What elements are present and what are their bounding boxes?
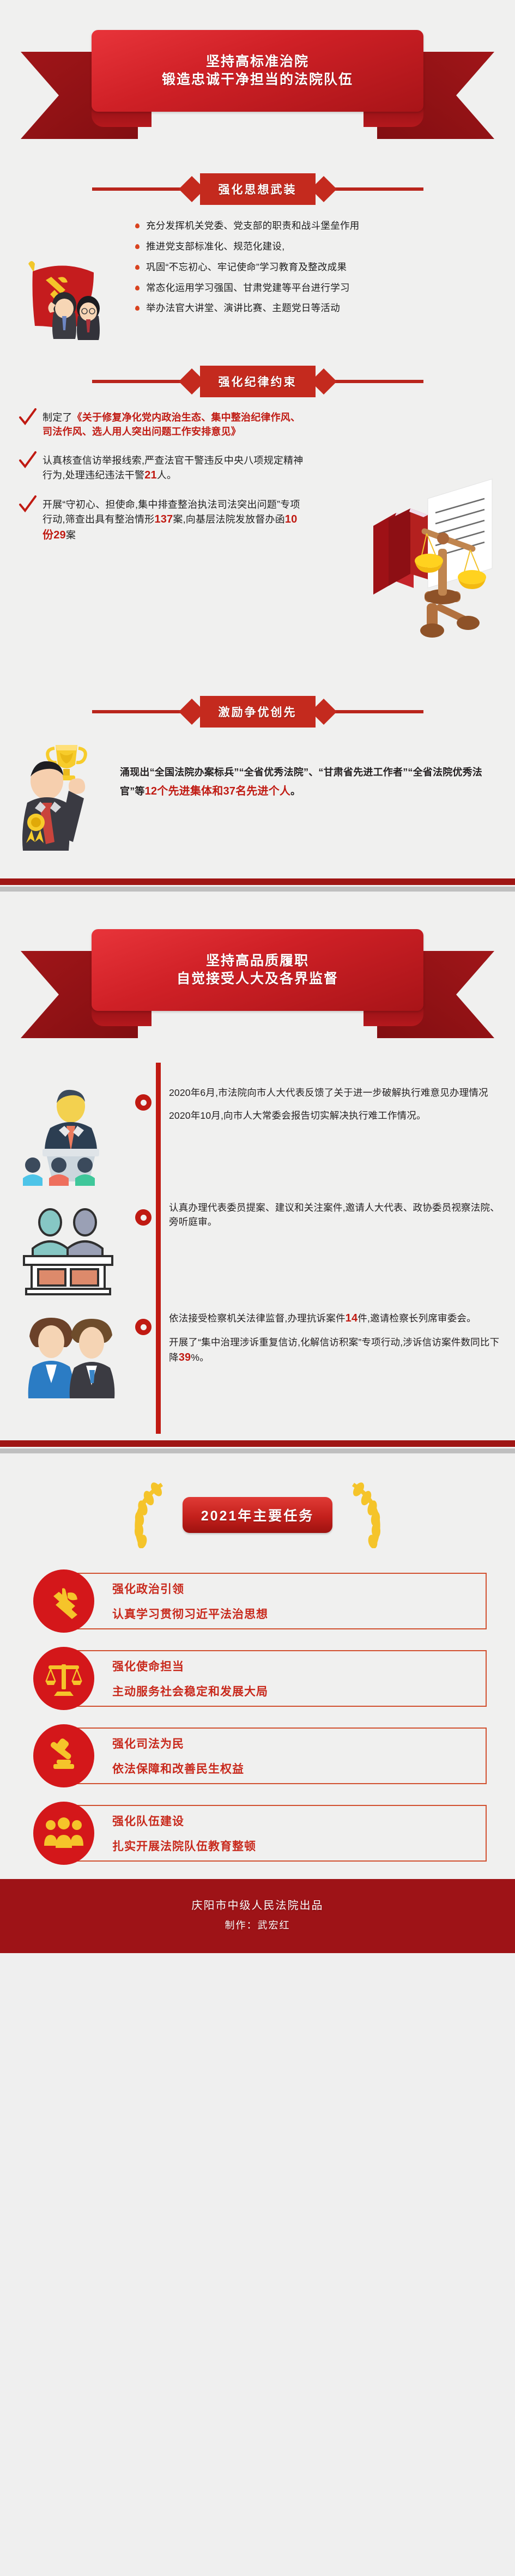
discipline-item-3: 开展“守初心、担使命,集中排查整治执法司法突出问题”专项行动,筛查出具有整治情形… bbox=[19, 498, 307, 544]
party-flag-salute-icon bbox=[12, 219, 126, 350]
tasks-heading-group: 2021年主要任务 bbox=[0, 1453, 515, 1569]
task-subtitle: 扎实开展法院队伍教育整顿 bbox=[112, 1838, 256, 1854]
timeline-dot-icon bbox=[135, 1209, 152, 1226]
check-mark-icon bbox=[19, 495, 37, 514]
task-title: 强化使命担当 bbox=[112, 1658, 268, 1674]
check-mark-icon bbox=[19, 451, 37, 470]
task-subtitle: 认真学习贯彻习近平法治思想 bbox=[112, 1605, 268, 1622]
timeline-dot-icon bbox=[135, 1094, 152, 1111]
task-badge bbox=[28, 1802, 99, 1865]
section-header-thought: 强化思想武装 bbox=[0, 163, 515, 210]
scales-icon bbox=[33, 1647, 94, 1710]
thought-content-block: 充分发挥机关党委、党支部的职责和战斗堡垒作用 推进党支部标准化、规范化建设, 巩… bbox=[0, 210, 515, 356]
hero-ribbon-banner: 坚持高标准治院 锻造忠诚干净担当的法院队伍 bbox=[0, 0, 515, 163]
trophy-award-person-icon bbox=[16, 738, 120, 856]
timeline-dot-icon bbox=[135, 1319, 152, 1335]
post-text: 件,邀请检察长列席审委会。 bbox=[358, 1313, 476, 1324]
timeline-paragraph: 依法接受检察机关法律监督,办理抗诉案件14件,邀请检察长列席审委会。 bbox=[169, 1310, 501, 1326]
list-item: 充分发挥机关党委、党支部的职责和战斗堡垒作用 bbox=[134, 219, 500, 233]
task-badge bbox=[28, 1724, 99, 1787]
timeline-paragraph: 认真办理代表委员提案、建议和关注案件,邀请人大代表、政协委员视察法院、旁听庭审。 bbox=[169, 1201, 501, 1229]
header-rule-left bbox=[92, 187, 185, 191]
section-divider-bar bbox=[0, 877, 515, 892]
stat-number-cases: 137 bbox=[154, 513, 173, 525]
gavel-icon bbox=[33, 1724, 94, 1787]
discipline-text-1: 制定了《关于修复净化党内政治生态、集中整治纪律作风、司法作风、选人用人突出问题工… bbox=[43, 410, 307, 439]
task-text: 强化使命担当 主动服务社会稳定和发展大局 bbox=[99, 1658, 268, 1699]
list-item: 巩固“不忘初心、牢记使命”学习教育及整改成果 bbox=[134, 260, 500, 274]
timeline-text: 依法接受检察机关法律监督,办理抗诉案件14件,邀请检察长列席审委会。 开展了“集… bbox=[169, 1302, 501, 1374]
mid-text: 案,向基层法院发放督办函 bbox=[173, 514, 284, 525]
section-title-incentive: 激励争优创先 bbox=[200, 696, 316, 728]
header-rule-right bbox=[331, 710, 423, 713]
second-title-line2: 自觉接受人大及各界监督 bbox=[177, 970, 338, 989]
check-mark-icon bbox=[19, 408, 37, 427]
incentive-text-after: 。 bbox=[290, 786, 300, 797]
stat-number-protest-cases: 14 bbox=[346, 1312, 358, 1324]
timeline-row: 认真办理代表委员提案、建议和关注案件,邀请人大代表、政协委员视察法院、旁听庭审。 bbox=[0, 1193, 501, 1298]
task-item-people: 强化司法为民 依法保障和改善民生权益 bbox=[28, 1724, 487, 1787]
task-item-team: 强化队伍建设 扎实开展法院队伍教育整顿 bbox=[28, 1802, 487, 1865]
law-books-scales-gavel-icon bbox=[363, 467, 511, 650]
task-text: 强化队伍建设 扎实开展法院队伍教育整顿 bbox=[99, 1813, 256, 1854]
task-title: 强化政治引领 bbox=[112, 1580, 268, 1597]
task-item-political: 强化政治引领 认真学习贯彻习近平法治思想 bbox=[28, 1569, 487, 1633]
three-people-icon bbox=[33, 1802, 94, 1865]
section-title-discipline: 强化纪律约束 bbox=[200, 366, 316, 397]
stat-number-decline-pct: 39 bbox=[179, 1351, 191, 1363]
discipline-item-1: 制定了《关于修复净化党内政治生态、集中整治纪律作风、司法作风、选人用人突出问题工… bbox=[19, 410, 307, 439]
header-rule-right bbox=[331, 187, 423, 191]
timeline-paragraph: 2020年10月,向市人大常委会报告切实解决执行难工作情况。 bbox=[169, 1108, 501, 1123]
two-people-bench-icon bbox=[0, 1193, 131, 1298]
timeline-paragraph: 开展了“集中治理涉诉重复信访,化解信访积案”专项行动,涉诉信访案件数同比下降39… bbox=[169, 1335, 501, 1366]
task-item-mission: 强化使命担当 主动服务社会稳定和发展大局 bbox=[28, 1647, 487, 1710]
task-title: 强化队伍建设 bbox=[112, 1813, 256, 1829]
tail-text: 案 bbox=[66, 530, 76, 541]
task-badge bbox=[28, 1647, 99, 1710]
section-header-incentive: 激励争优创先 bbox=[0, 686, 515, 733]
divider-red-line bbox=[0, 1440, 515, 1447]
discipline-item-2: 认真核查信访举报线索,严查法官干警违反中央八项规定精神行为,处理违纪违法干警21… bbox=[19, 453, 307, 483]
section-divider-bar-2 bbox=[0, 1439, 515, 1453]
incentive-stat-highlight: 12个先进集体和37名先进个人 bbox=[145, 785, 291, 797]
timeline-row: 2020年6月,市法院向市人大代表反馈了关于进一步破解执行难意见办理情况 202… bbox=[0, 1078, 501, 1189]
post-text: %。 bbox=[191, 1352, 209, 1363]
second-title-line1: 坚持高品质履职 bbox=[206, 952, 309, 971]
supervision-timeline: 2020年6月,市法院向市人大代表反馈了关于进一步破解执行难意见办理情况 202… bbox=[0, 1063, 515, 1434]
second-ribbon-plate: 坚持高品质履职 自觉接受人大及各界监督 bbox=[92, 929, 423, 1011]
divider-gray-line bbox=[0, 1448, 515, 1453]
discipline-content-block: 制定了《关于修复净化党内政治生态、集中整治纪律作风、司法作风、选人用人突出问题工… bbox=[0, 403, 515, 686]
hero-title-line2: 锻造忠诚干净担当的法院队伍 bbox=[162, 71, 353, 89]
header-rule-left bbox=[92, 710, 185, 713]
header-rule-left bbox=[92, 380, 185, 383]
section-title-thought: 强化思想武装 bbox=[200, 173, 316, 205]
task-subtitle: 依法保障和改善民生权益 bbox=[112, 1760, 244, 1777]
task-badge bbox=[28, 1569, 99, 1633]
laurel-branch-right-icon bbox=[347, 1478, 389, 1551]
list-item: 常态化运用学习强国、甘肃党建等平台进行学习 bbox=[134, 281, 500, 295]
discipline-text-2: 认真核查信访举报线索,严查法官干警违反中央八项规定精神行为,处理违纪违法干警21… bbox=[43, 453, 307, 483]
stat-number: 21 bbox=[144, 469, 157, 481]
pre-text: 依法接受检察机关法律监督,办理抗诉案件 bbox=[169, 1313, 346, 1324]
list-item: 推进党支部标准化、规范化建设, bbox=[134, 240, 500, 253]
people-pair-icon bbox=[0, 1302, 131, 1408]
party-emblem-icon bbox=[33, 1569, 94, 1633]
incentive-content-block: 涌现出“全国法院办案标兵”“全省优秀法院”、“甘肃省先进工作者”“全省法院优秀法… bbox=[0, 733, 515, 872]
tasks-heading-pill: 2021年主要任务 bbox=[183, 1497, 333, 1533]
divider-red-line bbox=[0, 878, 515, 885]
incentive-text: 涌现出“全国法院办案标兵”“全省优秀法院”、“甘肃省先进工作者”“全省法院优秀法… bbox=[120, 738, 502, 802]
timeline-text: 2020年6月,市法院向市人大代表反馈了关于进一步破解执行难意见办理情况 202… bbox=[169, 1078, 501, 1132]
footer-publisher: 庆阳市中级人民法院出品 bbox=[0, 1895, 515, 1916]
speaker-podium-audience-icon bbox=[0, 1078, 131, 1189]
section-header-discipline: 强化纪律约束 bbox=[0, 356, 515, 403]
tail-text: 人。 bbox=[157, 470, 177, 481]
document-title-highlight: 《关于修复净化党内政治生态、集中整治纪律作风、司法作风、选人用人突出问题工作安排… bbox=[43, 412, 300, 437]
footer-author: 制作：武宏红 bbox=[0, 1916, 515, 1935]
task-subtitle: 主动服务社会稳定和发展大局 bbox=[112, 1683, 268, 1699]
task-title: 强化司法为民 bbox=[112, 1735, 244, 1751]
divider-gray-line bbox=[0, 887, 515, 892]
infographic-page: 坚持高标准治院 锻造忠诚干净担当的法院队伍 强化思想武装 bbox=[0, 0, 515, 1953]
task-text: 强化政治引领 认真学习贯彻习近平法治思想 bbox=[99, 1580, 268, 1622]
hero-ribbon-plate: 坚持高标准治院 锻造忠诚干净担当的法院队伍 bbox=[92, 30, 423, 112]
timeline-row: 依法接受检察机关法律监督,办理抗诉案件14件,邀请检察长列席审委会。 开展了“集… bbox=[0, 1302, 501, 1408]
header-rule-right bbox=[331, 380, 423, 383]
laurel-branch-left-icon bbox=[126, 1478, 168, 1551]
timeline-text: 认真办理代表委员提案、建议和关注案件,邀请人大代表、政协委员视察法院、旁听庭审。 bbox=[169, 1193, 501, 1238]
thought-bullet-list: 充分发挥机关党委、党支部的职责和战斗堡垒作用 推进党支部标准化、规范化建设, 巩… bbox=[126, 219, 500, 322]
pre-text: 开展了“集中治理涉诉重复信访,化解信访积案”专项行动,涉诉信访案件数同比下降 bbox=[169, 1337, 499, 1363]
hero-title-line1: 坚持高标准治院 bbox=[206, 53, 309, 71]
lead-text: 制定了 bbox=[43, 412, 72, 423]
discipline-text-3: 开展“守初心、担使命,集中排查整治执法司法突出问题”专项行动,筛查出具有整治情形… bbox=[43, 498, 307, 544]
task-text: 强化司法为民 依法保障和改善民生权益 bbox=[99, 1735, 244, 1777]
page-footer: 庆阳市中级人民法院出品 制作：武宏红 bbox=[0, 1879, 515, 1953]
second-ribbon-banner: 坚持高品质履职 自觉接受人大及各界监督 bbox=[0, 899, 515, 1063]
list-item: 举办法官大讲堂、演讲比赛、主题党日等活动 bbox=[134, 301, 500, 315]
timeline-paragraph: 2020年6月,市法院向市人大代表反馈了关于进一步破解执行难意见办理情况 bbox=[169, 1086, 501, 1100]
